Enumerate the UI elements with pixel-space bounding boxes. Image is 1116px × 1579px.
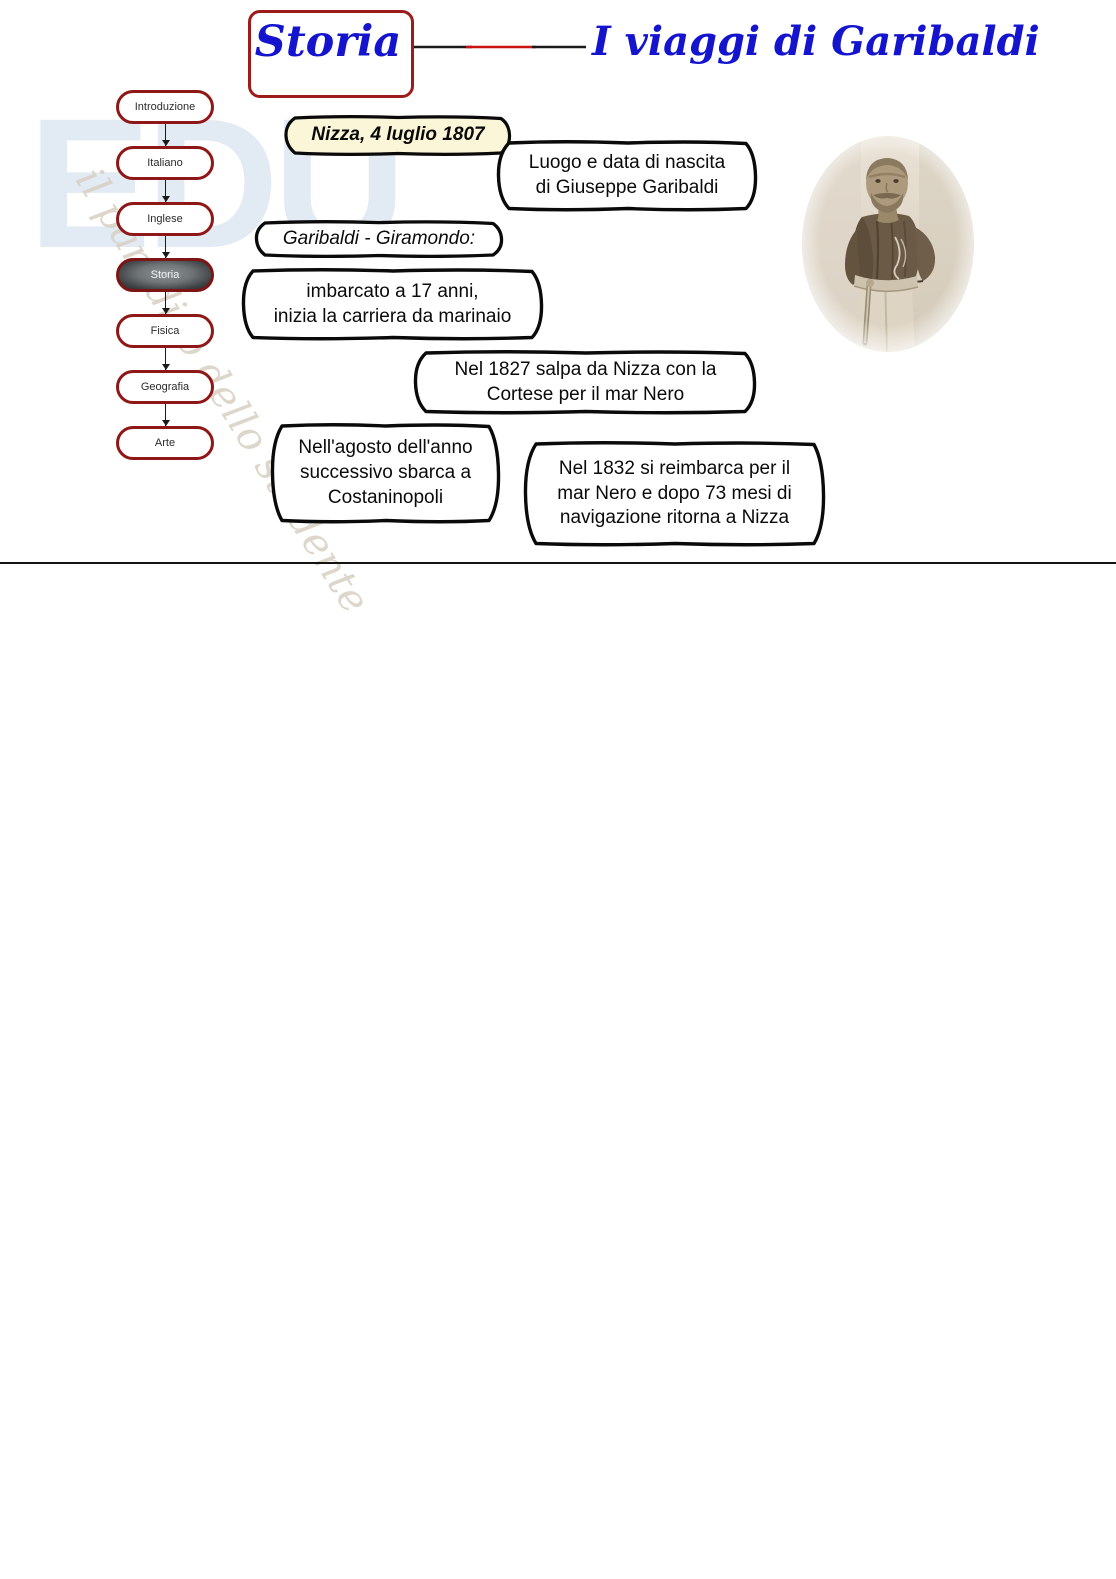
arrow-down-icon [165,404,166,426]
callout-text: Nel 1832 si reimbarca per il mar Nero e … [533,457,816,531]
callout-text: Nizza, 4 luglio 1807 [294,123,502,148]
sidebar-item-label: Storia [151,269,180,281]
callout-text: Garibaldi - Giramondo: [264,227,494,252]
page-canvas: EDU il paradiso dello studente Storia I … [0,0,1116,1579]
nav-connector-2 [116,236,220,258]
page-divider [0,562,1116,564]
sidebar-item-storia[interactable]: Storia [116,258,214,292]
nav-connector-5 [116,404,220,426]
sidebar-item-arte[interactable]: Arte [116,426,214,460]
sidebar-item-label: Fisica [151,325,180,337]
garibaldi-portrait [799,133,977,355]
callout-sailor-career: imbarcato a 17 anni, inizia la carriera … [241,268,544,341]
arrow-down-icon [165,348,166,370]
callout-birth-description: Luogo e data di nascita di Giuseppe Gari… [496,140,758,212]
subject-title-label: Storia [252,17,404,67]
topic-title: I viaggi di Garibaldi [592,18,1040,65]
sidebar-item-italiano[interactable]: Italiano [116,146,214,180]
callout-text: imbarcato a 17 anni, inizia la carriera … [251,280,534,329]
nav-connector-3 [116,292,220,314]
sidebar-item-label: Inglese [147,213,182,225]
header-connector-line [414,45,586,49]
nav-connector-0 [116,124,220,146]
arrow-down-icon [165,236,166,258]
callout-1827-voyage: Nel 1827 salpa da Nizza con la Cortese p… [413,350,758,415]
callout-text: Luogo e data di nascita di Giuseppe Gari… [506,151,748,200]
sidebar-item-label: Arte [155,437,175,449]
sidebar-item-introduzione[interactable]: Introduzione [116,90,214,124]
nav-connector-1 [116,180,220,202]
callout-costantinopoli: Nell'agosto dell'anno successivo sbarca … [270,423,501,524]
callout-giramondo-heading: Garibaldi - Giramondo: [254,220,504,258]
arrow-down-icon [165,124,166,146]
sidebar-item-label: Introduzione [135,101,196,113]
arrow-down-icon [165,292,166,314]
sidebar-item-label: Geografia [141,381,189,393]
arrow-down-icon [165,180,166,202]
sidebar-item-geografia[interactable]: Geografia [116,370,214,404]
callout-nizza-birthplace: Nizza, 4 luglio 1807 [284,115,512,156]
sidebar-item-fisica[interactable]: Fisica [116,314,214,348]
callout-text: Nel 1827 salpa da Nizza con la Cortese p… [423,358,748,407]
nav-connector-4 [116,348,220,370]
sidebar-item-inglese[interactable]: Inglese [116,202,214,236]
callout-1832-voyage: Nel 1832 si reimbarca per il mar Nero e … [523,441,826,547]
callout-text: Nell'agosto dell'anno successivo sbarca … [280,436,491,510]
subject-navigation: Introduzione Italiano Inglese Storia Fis… [116,90,220,460]
sidebar-item-label: Italiano [147,157,182,169]
